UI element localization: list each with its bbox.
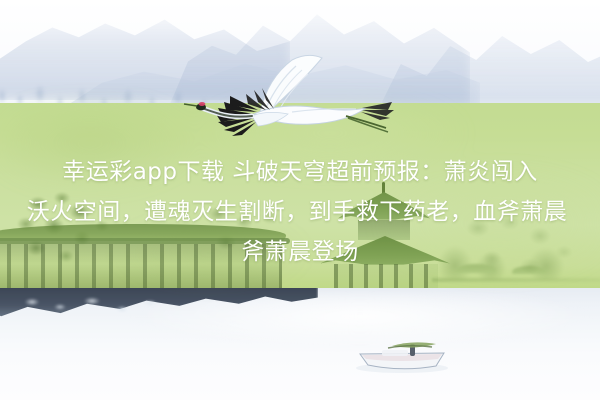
boat-icon — [352, 338, 452, 374]
caption-line-1: 幸运彩app下载 斗破天穹超前预报：萧炎闯入 — [0, 152, 600, 192]
caption-line-3: 斧萧晨登场 — [0, 232, 600, 272]
caption-overlay: 幸运彩app下载 斗破天穹超前预报：萧炎闯入 沃火空间，遭魂灭生割断，到手救下药… — [0, 152, 600, 272]
banner-image: 幸运彩app下载 斗破天穹超前预报：萧炎闯入 沃火空间，遭魂灭生割断，到手救下药… — [0, 0, 600, 400]
flying-crane-icon — [196, 52, 408, 138]
distant-shoreline — [432, 278, 600, 282]
caption-line-2: 沃火空间，遭魂灭生割断，到手救下药老，血斧萧晨 — [0, 192, 600, 232]
shoreline-highlights — [18, 296, 168, 318]
